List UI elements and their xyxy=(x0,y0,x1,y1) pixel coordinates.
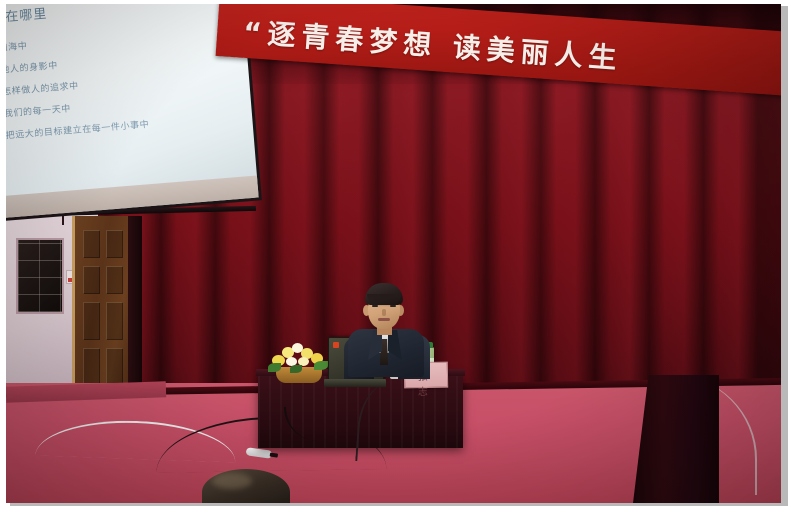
flower-arrangement xyxy=(268,339,330,383)
laptop-base xyxy=(324,379,386,387)
laptop-logo xyxy=(333,342,339,348)
photograph: 春梦想在哪里 梦想在脑海中 梦想在他人的身影中 梦想在怎样做人的追求中 梦想在我… xyxy=(6,4,781,503)
speaker-person xyxy=(346,283,434,375)
speaker-hair xyxy=(365,283,403,305)
slide-body: 梦想在脑海中 梦想在他人的身影中 梦想在怎样做人的追求中 梦想在我们的每一天中 … xyxy=(6,22,245,153)
rail-hook xyxy=(62,216,64,225)
window xyxy=(16,238,64,314)
speaker-mouth xyxy=(378,318,390,321)
slide-title: 春梦想在哪里 xyxy=(6,4,48,29)
speaker-nose xyxy=(382,309,386,316)
photo-frame: 春梦想在哪里 梦想在脑海中 梦想在他人的身影中 梦想在怎样做人的追求中 梦想在我… xyxy=(0,0,800,518)
